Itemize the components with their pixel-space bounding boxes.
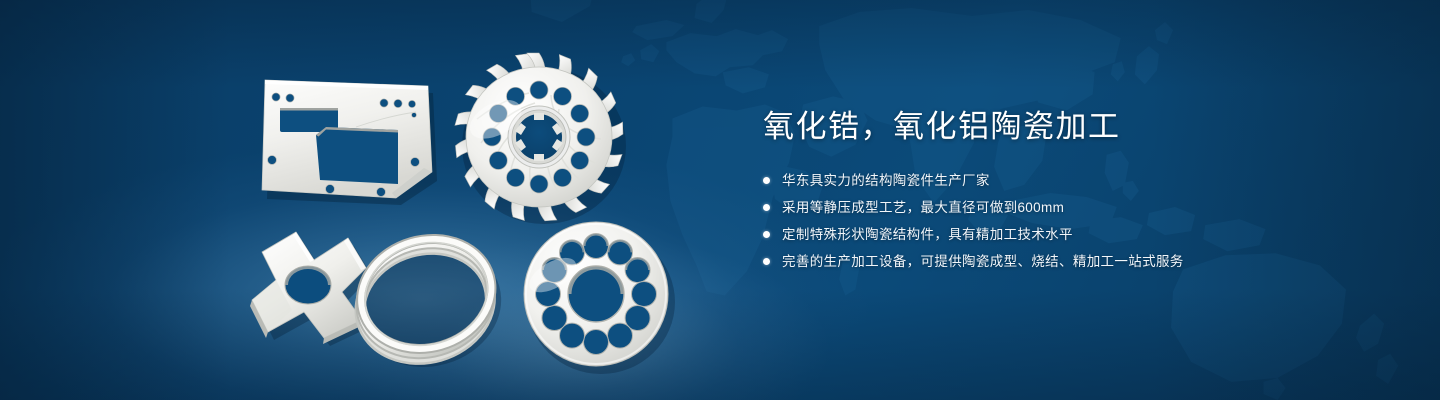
list-item-label: 定制特殊形状陶瓷结构件，具有精加工技术水平 xyxy=(782,225,1073,244)
list-item: 华东具实力的结构陶瓷件生产厂家 xyxy=(763,171,1383,190)
list-item: 定制特殊形状陶瓷结构件，具有精加工技术水平 xyxy=(763,225,1383,244)
list-item: 完善的生产加工设备，可提供陶瓷成型、烧结、精加工一站式服务 xyxy=(763,252,1383,271)
bullet-dot-icon xyxy=(763,231,770,238)
list-item-label: 完善的生产加工设备，可提供陶瓷成型、烧结、精加工一站式服务 xyxy=(782,252,1184,271)
feature-list: 华东具实力的结构陶瓷件生产厂家 采用等静压成型工艺，最大直径可做到600mm 定… xyxy=(763,171,1383,271)
list-item: 采用等静压成型工艺，最大直径可做到600mm xyxy=(763,198,1383,217)
list-item-label: 华东具实力的结构陶瓷件生产厂家 xyxy=(782,171,990,190)
hero-banner: 氧化锆，氧化铝陶瓷加工 华东具实力的结构陶瓷件生产厂家 采用等静压成型工艺，最大… xyxy=(0,0,1440,400)
list-item-label: 采用等静压成型工艺，最大直径可做到600mm xyxy=(782,198,1064,217)
banner-copy: 氧化锆，氧化铝陶瓷加工 华东具实力的结构陶瓷件生产厂家 采用等静压成型工艺，最大… xyxy=(763,108,1383,271)
page-title: 氧化锆，氧化铝陶瓷加工 xyxy=(763,108,1383,145)
bullet-dot-icon xyxy=(763,177,770,184)
bullet-dot-icon xyxy=(763,204,770,211)
bullet-dot-icon xyxy=(763,258,770,265)
